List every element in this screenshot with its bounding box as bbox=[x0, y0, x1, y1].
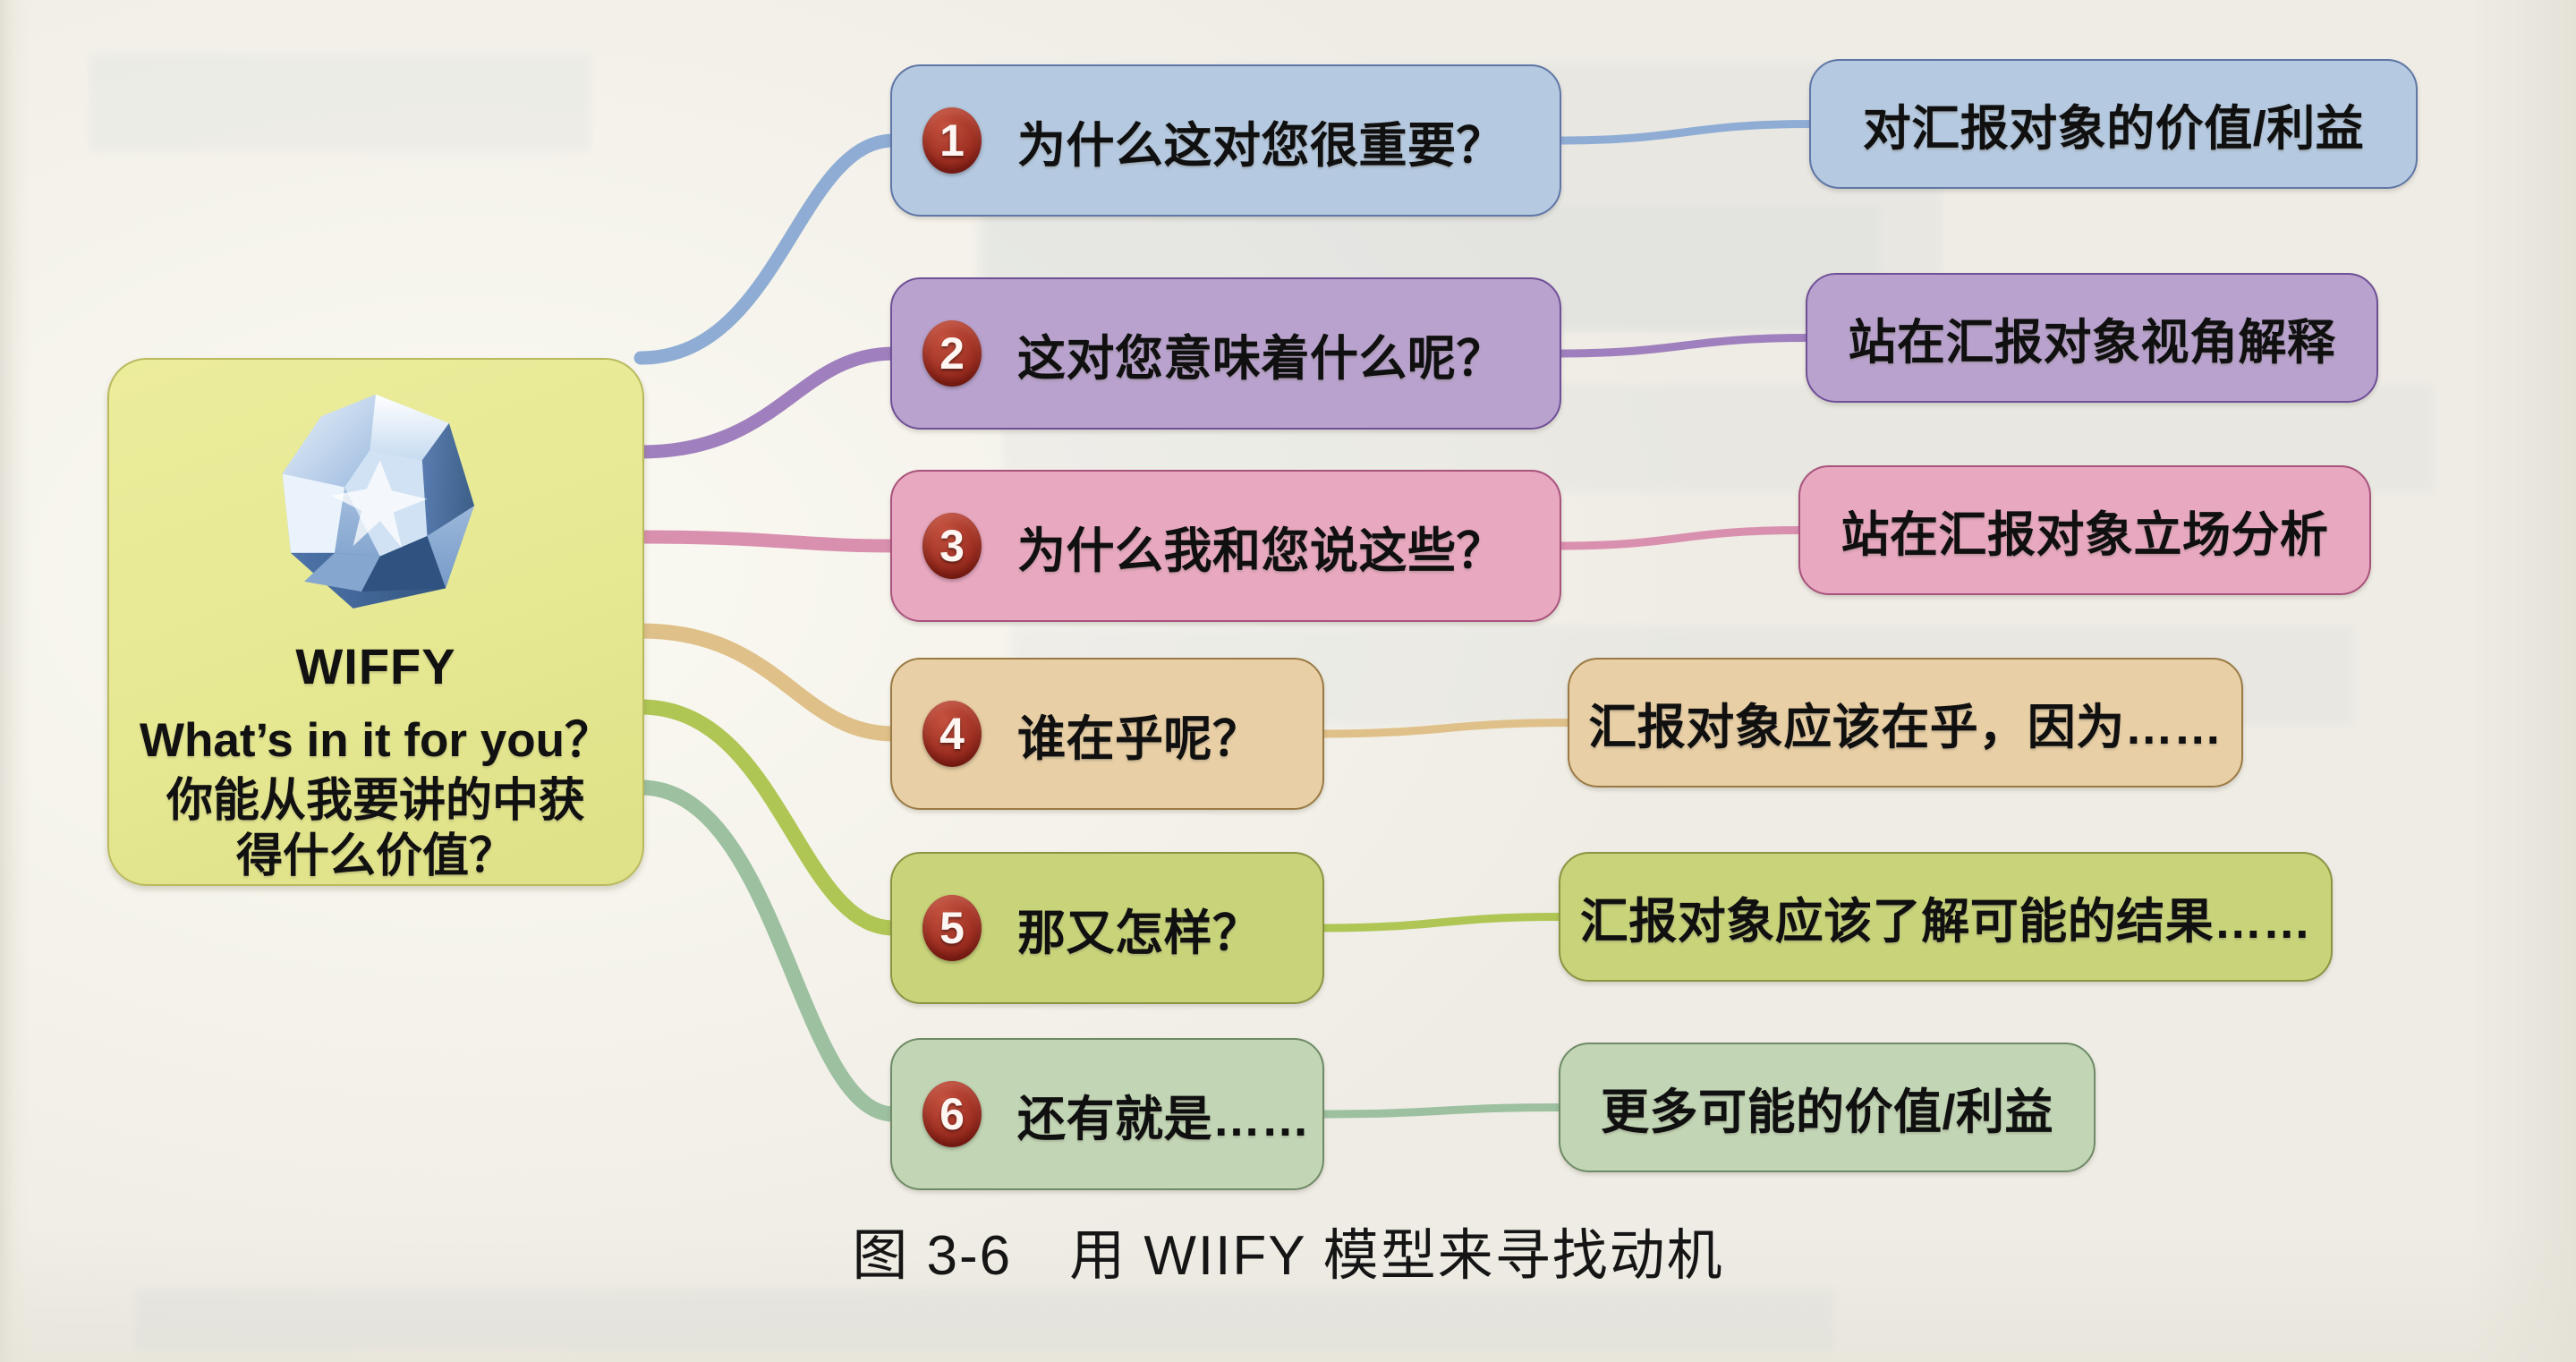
question-node-4[interactable]: 4 谁在乎呢？ bbox=[890, 658, 1324, 810]
question-label-4: 谁在乎呢？ bbox=[1017, 699, 1322, 770]
wiffy-node[interactable]: WIFFY What’s in it for you？ 你能从我要讲的中获 得什… bbox=[107, 358, 644, 886]
answer-node-2[interactable]: 站在汇报对象视角解释 bbox=[1806, 273, 2378, 403]
step-badge-5: 5 bbox=[922, 895, 982, 961]
answer-node-3[interactable]: 站在汇报对象立场分析 bbox=[1798, 465, 2371, 595]
hero-english-subtitle: What’s in it for you？ bbox=[140, 702, 612, 770]
step-badge-2: 2 bbox=[922, 320, 982, 387]
page-left-edge bbox=[0, 0, 30, 1362]
question-label-5: 那又怎样？ bbox=[1017, 893, 1322, 964]
question-label-1: 为什么这对您很重要？ bbox=[1017, 106, 1560, 176]
figure-canvas: WIFFY What’s in it for you？ 你能从我要讲的中获 得什… bbox=[0, 0, 2576, 1362]
answer-node-6[interactable]: 更多可能的价值/利益 bbox=[1559, 1043, 2096, 1172]
answer-node-1[interactable]: 对汇报对象的价值/利益 bbox=[1809, 59, 2418, 189]
question-label-2: 这对您意味着什么呢？ bbox=[1017, 319, 1560, 389]
step-badge-1: 1 bbox=[922, 107, 982, 174]
answer-label-3: 站在汇报对象立场分析 bbox=[1800, 495, 2369, 566]
answer-label-5: 汇报对象应该了解可能的结果…… bbox=[1560, 881, 2331, 952]
blue-gem-icon bbox=[246, 379, 506, 632]
figure-caption: 图 3-6 用 WIIFY 模型来寻找动机 bbox=[0, 1210, 2576, 1290]
hero-chinese-line-1: 你能从我要讲的中获 bbox=[166, 774, 585, 829]
hero-chinese-line-2: 得什么价值？ bbox=[166, 830, 585, 884]
answer-node-5[interactable]: 汇报对象应该了解可能的结果…… bbox=[1559, 852, 2333, 982]
answer-node-4[interactable]: 汇报对象应该在乎，因为…… bbox=[1568, 658, 2243, 787]
answer-label-4: 汇报对象应该在乎，因为…… bbox=[1569, 687, 2241, 758]
question-node-1[interactable]: 1 为什么这对您很重要？ bbox=[890, 64, 1561, 217]
step-badge-3: 3 bbox=[922, 513, 982, 579]
page-right-edge bbox=[2469, 0, 2576, 1362]
answer-label-2: 站在汇报对象视角解释 bbox=[1807, 302, 2376, 373]
question-node-2[interactable]: 2 这对您意味着什么呢？ bbox=[890, 277, 1561, 430]
answer-label-1: 对汇报对象的价值/利益 bbox=[1811, 89, 2416, 159]
bleed-through-block bbox=[89, 54, 591, 152]
question-label-3: 为什么我和您说这些？ bbox=[1017, 511, 1560, 582]
question-node-6[interactable]: 6 还有就是…… bbox=[890, 1038, 1324, 1190]
step-badge-4: 4 bbox=[922, 701, 982, 767]
answer-label-6: 更多可能的价值/利益 bbox=[1560, 1072, 2094, 1143]
question-node-5[interactable]: 5 那又怎样？ bbox=[890, 852, 1324, 1004]
step-badge-6: 6 bbox=[922, 1081, 982, 1147]
question-node-3[interactable]: 3 为什么我和您说这些？ bbox=[890, 470, 1561, 622]
question-label-6: 还有就是…… bbox=[1017, 1079, 1322, 1150]
bleed-through-block bbox=[134, 1289, 1834, 1351]
hero-title: WIFFY bbox=[295, 637, 455, 695]
hero-chinese-subtitle: 你能从我要讲的中获 得什么价值？ bbox=[166, 774, 585, 884]
